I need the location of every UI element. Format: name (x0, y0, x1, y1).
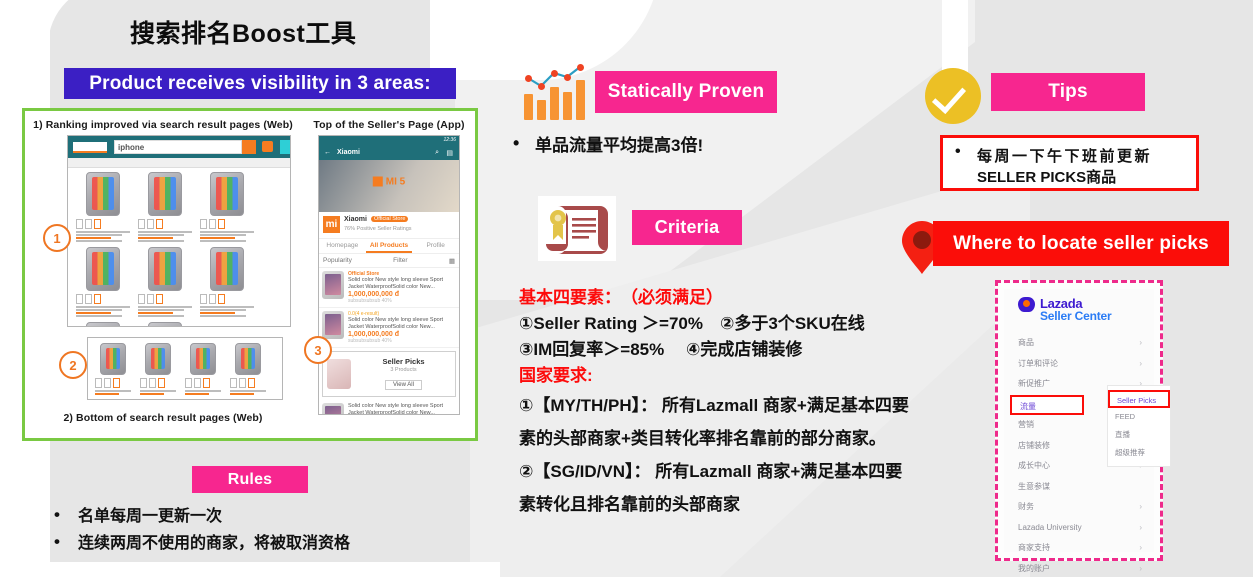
list-item[interactable]: Official Store Solid color New style lon… (319, 268, 459, 308)
product-image (210, 247, 244, 291)
menu-label: 流量 (1020, 402, 1036, 411)
web-nav-bar (68, 158, 290, 168)
product-card[interactable] (74, 322, 132, 327)
statically-proven-badge: Statically Proven (595, 71, 777, 113)
product-card[interactable] (74, 172, 132, 243)
price-line (200, 237, 235, 239)
product-image (322, 311, 344, 339)
menu-label: 商家支持 (1018, 543, 1050, 552)
product-sub: subsubsubsub 40% (348, 298, 456, 304)
app-tabs: Homepage All Products Profile (319, 239, 459, 254)
product-sub: subsubsubsub 40% (348, 338, 456, 344)
chevron-right-icon: › (1139, 538, 1142, 559)
seller-rating-text: 76% Positive Seller Ratings (344, 226, 412, 232)
menu-label: 订单和评论 (1018, 359, 1058, 368)
title-line (200, 306, 254, 308)
stat-bullet: 单品流量平均提高3倍! (505, 135, 703, 157)
menu-label: 财务 (1018, 502, 1034, 511)
price-line (140, 393, 164, 395)
mi-logo-icon (373, 177, 383, 187)
title-line (230, 390, 266, 392)
menu-label: Lazada University (1018, 523, 1082, 532)
swatch-row (200, 294, 256, 304)
view-all-button[interactable]: View All (385, 380, 422, 390)
title-line (200, 234, 246, 236)
menu-label: 生意参谋 (1018, 482, 1050, 491)
product-image (100, 343, 126, 375)
menu-item-finance[interactable]: 财务 › (1010, 497, 1148, 518)
search-icon[interactable] (242, 140, 256, 154)
app-status-bar: 12:36 (319, 136, 459, 145)
list-item: 名单每周一更新一次 (46, 507, 466, 526)
page-title: 搜索排名Boost工具 (130, 14, 356, 50)
meta-line (200, 315, 246, 317)
tab-homepage[interactable]: Homepage (319, 239, 366, 253)
web-header-bar: iphone (68, 136, 290, 158)
menu-item-seller-support[interactable]: 商家支持 › (1010, 538, 1148, 559)
seller-center-screenshot: Lazada Seller Center 商品 › 订单和评论 › 新促推广 › (995, 280, 1163, 561)
seller-info-row: mi Xiaomi Official Store 76% Positive Se… (319, 212, 459, 239)
picks-image (327, 359, 351, 389)
product-image (235, 343, 261, 375)
caption-web-bottom: 2) Bottom of search result pages (Web) (29, 412, 297, 424)
list-item[interactable]: Solid color New style long sleeve Sport … (319, 400, 459, 415)
meta-line (200, 240, 246, 242)
chevron-right-icon: › (1139, 497, 1142, 518)
price-line (76, 237, 111, 239)
price-line (200, 312, 235, 314)
submenu-item-seller-picks[interactable]: Seller Picks (1108, 390, 1170, 408)
swatch-row (138, 294, 194, 304)
tab-profile[interactable]: Profile (412, 239, 459, 253)
swatch-row (230, 378, 268, 388)
product-meta: Solid color New style long sleeve Sport … (348, 403, 456, 415)
caption-app: Top of the Seller's Page (App) (301, 119, 477, 131)
product-image (210, 172, 244, 216)
swatch-row (140, 378, 178, 388)
official-store-badge: Official Store (371, 216, 408, 222)
title-line (76, 309, 122, 311)
product-image (86, 322, 120, 327)
country-requirement-2: ②【SG/ID/VN】： 所有Lazmall 商家+满足基本四要素转化且排名靠前… (519, 455, 919, 521)
product-image (190, 343, 216, 375)
product-card[interactable] (198, 247, 256, 318)
store-banner: MI 5 (319, 160, 459, 212)
status-time: 12:36 (443, 138, 456, 143)
bar-chart-icon (524, 64, 586, 120)
title-line (138, 234, 184, 236)
product-meta: 0.0(4 e-result) Solid color New style lo… (348, 311, 456, 344)
product-image (322, 403, 344, 415)
product-grid (68, 168, 290, 327)
product-card[interactable] (228, 343, 268, 396)
rules-list: 名单每周一更新一次 连续两周不使用的商家，将被取消资格 (46, 507, 466, 561)
lazada-heart-icon (1018, 297, 1035, 312)
title-line (185, 390, 221, 392)
product-title: Solid color New style long sleeve Sport … (348, 317, 456, 331)
search-icon[interactable]: ⌕ (435, 149, 439, 157)
country-requirement-1: ①【MY/TH/PH】： 所有Lazmall 商家+满足基本四要素的头部商家+类… (519, 389, 919, 455)
menu-label: 新促推广 (1018, 379, 1050, 388)
seller-center-inner: Lazada Seller Center 商品 › 订单和评论 › 新促推广 › (1004, 289, 1154, 552)
product-image (86, 172, 120, 216)
picks-count: 3 Products (356, 367, 451, 373)
menu-label: 我的账户 (1018, 564, 1050, 573)
swatch-row (185, 378, 223, 388)
product-title: Solid color New style long sleeve Sport … (348, 403, 456, 415)
product-card[interactable] (93, 343, 133, 396)
title-line (76, 306, 130, 308)
chevron-right-icon: › (1139, 354, 1142, 375)
criteria-line-2: ③IM回复率＞=85% ④完成店铺装修 (519, 337, 919, 363)
title-line (76, 234, 122, 236)
screenshots-frame: 1) Ranking improved via search result pa… (22, 108, 478, 441)
swatch-row (138, 219, 194, 229)
product-card[interactable] (138, 343, 178, 396)
product-image (145, 343, 171, 375)
back-icon[interactable]: ← (324, 149, 331, 156)
hero-brand: MI 5 (373, 176, 405, 187)
product-image (148, 172, 182, 216)
tab-all-products[interactable]: All Products (366, 239, 413, 253)
swatch-row (200, 219, 256, 229)
web-search-input[interactable]: iphone (114, 140, 242, 154)
marker-1: 1 (43, 224, 71, 252)
menu-label: 商品 (1018, 338, 1034, 347)
rules-badge: Rules (192, 466, 308, 493)
title-line (200, 309, 246, 311)
country-heading: 国家要求: (519, 363, 919, 389)
price-line (230, 393, 254, 395)
traffic-submenu: Seller Picks FEED 直播 超级推荐 (1107, 385, 1171, 467)
cart-icon[interactable]: ▤ (446, 149, 453, 157)
app-seller-page-screenshot: 12:36 ← Xiaomi ⌕ ▤ MI 5 mi Xiaomi (318, 135, 460, 415)
list-item[interactable]: 0.0(4 e-result) Solid color New style lo… (319, 308, 459, 348)
certificate-icon (538, 196, 616, 261)
price-line (95, 393, 119, 395)
swatch-row (76, 219, 132, 229)
submenu-item-live[interactable]: 直播 (1108, 426, 1170, 444)
seller-name: Xiaomi (344, 216, 367, 223)
app-title: Xiaomi (337, 149, 360, 156)
product-card[interactable] (198, 172, 256, 243)
title-line (76, 231, 130, 233)
criteria-badge: Criteria (632, 210, 742, 245)
visibility-band: Product receives visibility in 3 areas: (64, 68, 456, 99)
meta-line (76, 315, 122, 317)
title-line (138, 231, 192, 233)
menu-item-traffic[interactable]: 流量 (1010, 395, 1084, 416)
product-grid-bottom (88, 338, 282, 400)
list-item: 连续两周不使用的商家，将被取消资格 (46, 534, 466, 553)
meta-line (76, 240, 122, 242)
chevron-right-icon: › (1139, 333, 1142, 354)
meta-line (138, 240, 184, 242)
product-image (86, 247, 120, 291)
chevron-right-icon: › (1139, 559, 1142, 579)
logo-wordmark: Lazada Seller Center (1040, 297, 1111, 323)
app-title-bar: ← Xiaomi ⌕ ▤ (319, 145, 459, 160)
hero-brand-text: MI 5 (386, 176, 405, 187)
filter-row: Popularity Filter ▦ (319, 254, 459, 268)
title-line (138, 306, 192, 308)
product-price: 1,000,000,000 đ (348, 331, 456, 338)
filter-button[interactable]: Filter (393, 257, 407, 264)
lazada-logo (73, 142, 107, 153)
web-search-results-screenshot: iphone (67, 135, 291, 327)
tips-line-2: SELLER PICKS商品 (977, 166, 1116, 187)
menu-item-products[interactable]: 商品 › (1010, 333, 1148, 354)
marker-3: 3 (304, 336, 332, 364)
menu-label: 营销 (1018, 420, 1034, 429)
meta-line (138, 315, 184, 317)
seller-picks-card[interactable]: Seller Picks 3 Products View All (322, 351, 456, 397)
criteria-text-block: 基本四要素： （必须满足） ①Seller Rating ＞=70% ②多于3个… (519, 285, 919, 521)
picks-title: Seller Picks (356, 357, 451, 366)
product-card[interactable] (136, 247, 194, 318)
submenu-item-super-recommend[interactable]: 超级推荐 (1108, 444, 1170, 462)
criteria-heading: 基本四要素： （必须满足） (519, 285, 919, 311)
swatch-row (76, 294, 132, 304)
picks-text: Seller Picks 3 Products View All (356, 357, 451, 391)
lazada-seller-center-logo: Lazada Seller Center (1018, 297, 1111, 323)
price-line (76, 312, 111, 314)
check-circle-icon (925, 68, 981, 124)
product-card[interactable] (136, 172, 194, 243)
marker-2: 2 (59, 351, 87, 379)
product-image (322, 271, 344, 299)
product-card[interactable] (136, 322, 194, 327)
sort-dropdown[interactable]: Popularity (323, 257, 352, 264)
menu-item-business-advisor[interactable]: 生意参谋 (1010, 477, 1148, 498)
price-line (138, 312, 173, 314)
title-line (200, 231, 254, 233)
menu-label: 店铺装修 (1018, 441, 1050, 450)
price-line (185, 393, 209, 395)
login-button[interactable] (280, 140, 291, 154)
product-price: 1,000,000,000 đ (348, 291, 456, 298)
product-image (148, 322, 182, 327)
web-bottom-results-screenshot (87, 337, 283, 400)
tips-line-1: 每周一下午下班前更新 (955, 145, 1152, 166)
web-screenshots-column: 1) Ranking improved via search result pa… (25, 111, 301, 438)
product-card[interactable] (183, 343, 223, 396)
menu-label: 成长中心 (1018, 461, 1050, 470)
brand-line-2: Seller Center (1040, 310, 1111, 323)
where-to-locate-badge: Where to locate seller picks (933, 221, 1229, 266)
menu-item-lazada-university[interactable]: Lazada University › (1010, 518, 1148, 539)
title-line (138, 309, 184, 311)
menu-item-orders-reviews[interactable]: 订单和评论 › (1010, 354, 1148, 375)
criteria-line-1: ①Seller Rating ＞=70% ②多于3个SKU在线 (519, 311, 919, 337)
tips-badge: Tips (991, 73, 1145, 111)
seller-logo: mi (323, 216, 340, 233)
app-screenshot-column: Top of the Seller's Page (App) 12:36 ← X… (301, 111, 477, 438)
title-line (95, 390, 131, 392)
product-card[interactable] (74, 247, 132, 318)
swatch-row (95, 378, 133, 388)
tips-box: 每周一下午下班前更新 SELLER PICKS商品 (940, 135, 1199, 191)
menu-item-my-account[interactable]: 我的账户 › (1010, 559, 1148, 579)
product-meta: Official Store Solid color New style lon… (348, 271, 456, 304)
title-line (140, 390, 176, 392)
cart-icon[interactable] (262, 141, 273, 152)
price-line (138, 237, 173, 239)
grid-toggle-icon[interactable]: ▦ (449, 257, 455, 265)
product-image (148, 247, 182, 291)
submenu-item-feed[interactable]: FEED (1108, 408, 1170, 426)
chevron-right-icon: › (1139, 518, 1142, 539)
caption-web-top: 1) Ranking improved via search result pa… (29, 119, 297, 131)
product-title: Solid color New style long sleeve Sport … (348, 277, 456, 291)
